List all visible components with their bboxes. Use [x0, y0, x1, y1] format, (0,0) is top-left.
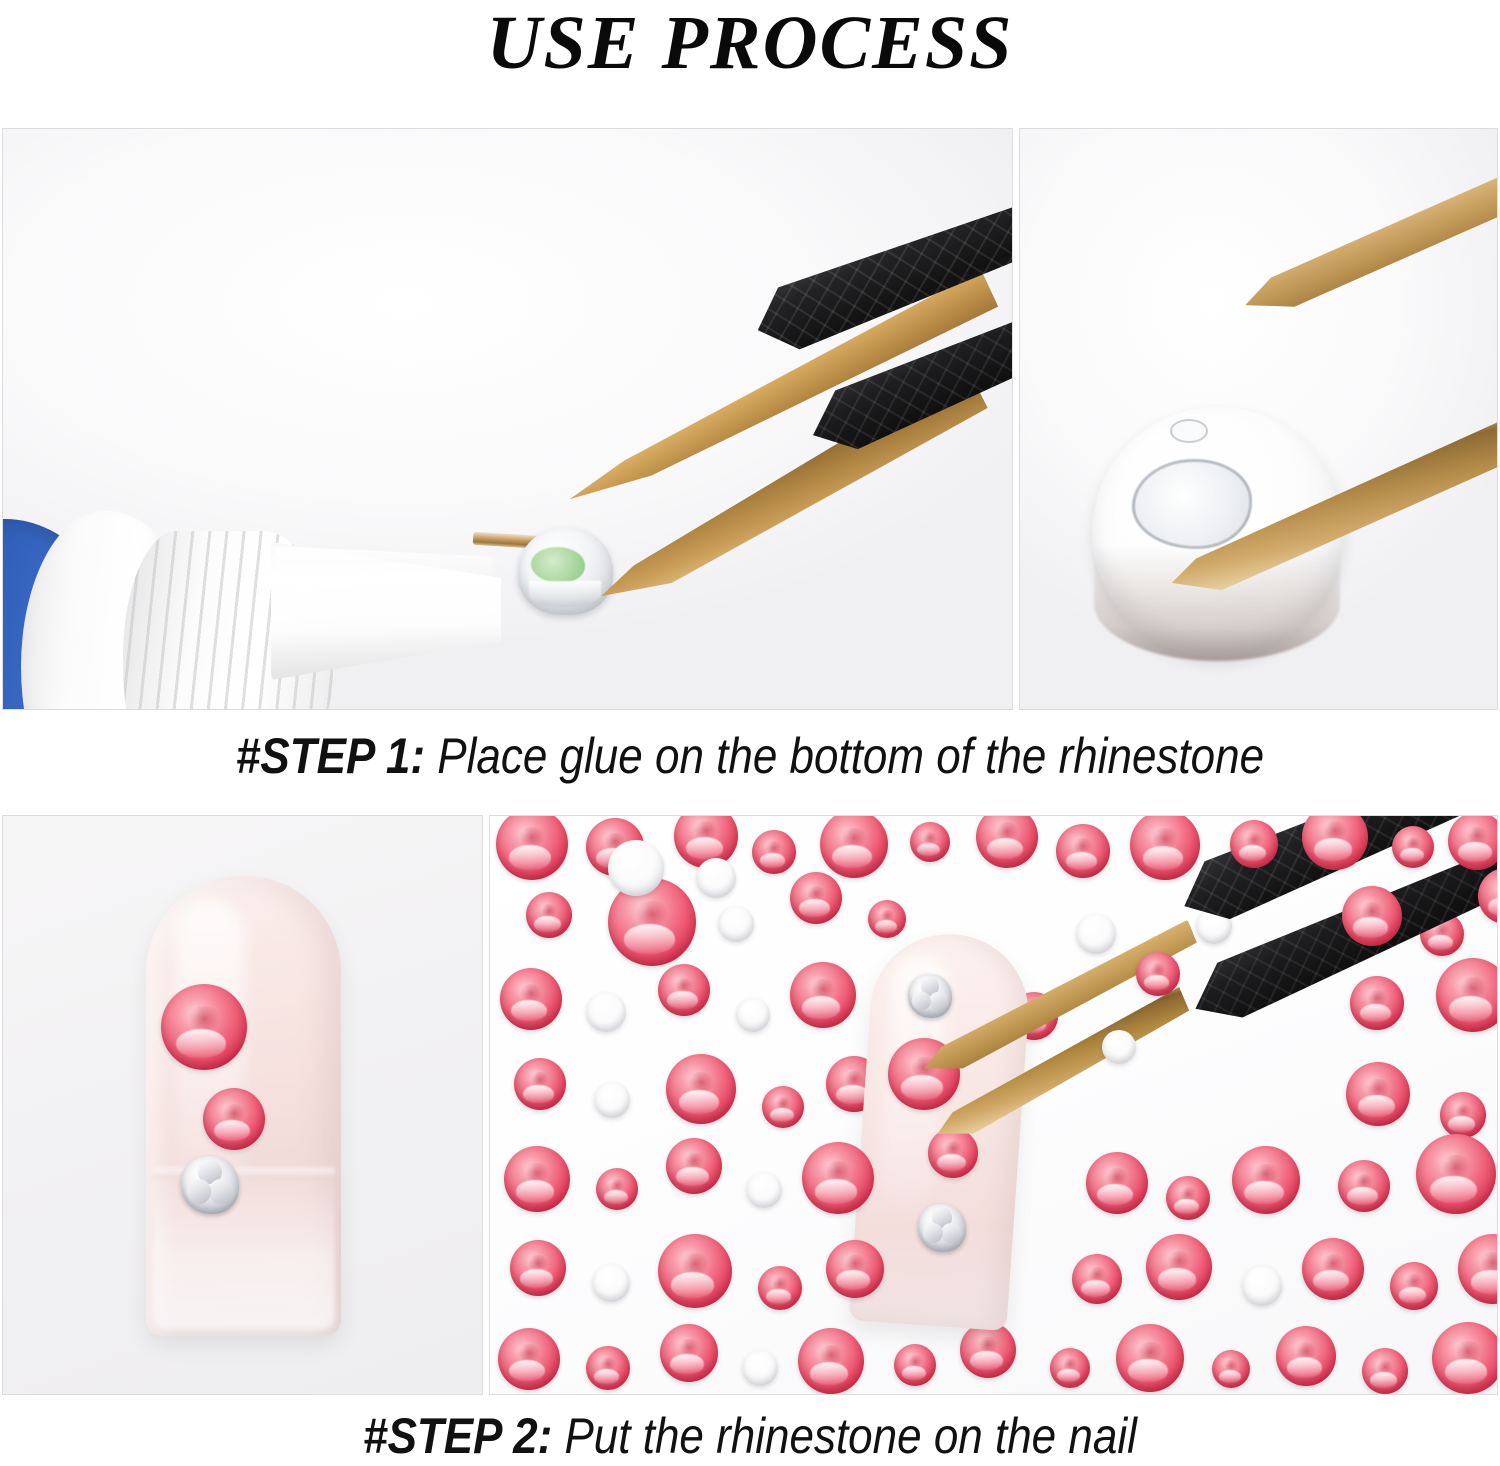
- pink-rhinestone-icon: [1276, 1326, 1336, 1386]
- step-1-label: #STEP 1:: [236, 728, 425, 784]
- pink-rhinestone-icon: [1230, 820, 1278, 868]
- rhinestone-silver-back-icon: [592, 1264, 630, 1302]
- pink-rhinestone-icon: [1166, 1176, 1210, 1220]
- rhinestone-silver-back-icon: [742, 1350, 778, 1386]
- step-1-text: Place glue on the bottom of the rhinesto…: [425, 728, 1264, 784]
- pink-rhinestone-icon: [666, 1054, 736, 1124]
- pink-rhinestone-icon: [510, 1240, 566, 1296]
- pink-rhinestone-icon: [1440, 1092, 1486, 1138]
- rhinestone-silver-back-icon: [608, 840, 664, 896]
- pink-rhinestone-icon: [1116, 1324, 1184, 1392]
- pink-rhinestone-icon: [498, 1328, 560, 1390]
- pink-rhinestone-icon: [1416, 1134, 1496, 1214]
- pink-rhinestone-icon: [752, 830, 796, 874]
- pink-rhinestone-icon: [1362, 1348, 1408, 1394]
- photo-rhinestone-scatter: [489, 815, 1498, 1395]
- rhinestone-silver-back-icon: [1102, 1030, 1136, 1064]
- rhinestone-silver-back-icon: [1076, 914, 1116, 954]
- pink-rhinestone-icon: [758, 1266, 802, 1310]
- crystal-lobe-icon: [912, 992, 930, 1010]
- small-pink-rhinestone: [203, 1088, 265, 1150]
- rhinestone-silver-back-icon: [594, 1082, 630, 1118]
- crystal-lobe-icon: [941, 1223, 961, 1243]
- rhinestone-silver-back-icon: [736, 998, 770, 1032]
- pink-rhinestone-icon: [504, 1146, 570, 1212]
- pink-rhinestone-icon: [1392, 826, 1434, 868]
- photo-glue-bottle-and-tweezers: [2, 128, 1013, 710]
- rhinestone-silver-back-icon: [1242, 1266, 1282, 1306]
- pink-rhinestone-icon: [1338, 1160, 1390, 1212]
- step-2-text: Put the rhinestone on the nail: [552, 1408, 1137, 1464]
- step-2-caption: #STEP 2: Put the rhinestone on the nail: [90, 1407, 1410, 1465]
- pink-rhinestone-icon: [586, 1346, 630, 1390]
- pink-rhinestone-icon: [1146, 1234, 1212, 1300]
- pink-rhinestone-icon: [658, 1234, 732, 1308]
- pink-rhinestone-icon: [826, 1240, 884, 1298]
- pink-rhinestone-icon: [500, 968, 562, 1030]
- pink-rhinestone-icon: [798, 1328, 864, 1394]
- pink-rhinestone-icon: [1050, 1348, 1090, 1388]
- pink-rhinestone-icon: [1136, 952, 1180, 996]
- pink-rhinestone-icon: [1072, 1254, 1122, 1304]
- pink-rhinestone-icon: [526, 892, 572, 938]
- pink-rhinestone-icon: [514, 1058, 566, 1110]
- rhinestone-silver-back-icon: [718, 906, 754, 942]
- rhinestone-silver-back-icon: [586, 992, 626, 1032]
- crystal-lobe-icon: [209, 1179, 233, 1203]
- pink-rhinestone-icon: [1232, 1146, 1300, 1214]
- photo-rhinestone-back-closeup: [1019, 128, 1498, 710]
- pink-rhinestone-icon: [1056, 824, 1110, 878]
- clear-crystal-cluster-icon: [918, 1204, 966, 1252]
- clear-crystal-cluster-icon: [908, 974, 952, 1018]
- pink-rhinestone-icon: [894, 1344, 936, 1386]
- pink-rhinestone-icon: [790, 962, 856, 1028]
- pink-rhinestone-icon: [666, 1138, 722, 1194]
- pink-rhinestone-icon: [1212, 1350, 1250, 1388]
- pink-rhinestone-icon: [1342, 886, 1402, 946]
- rhinestone-facet-icon: [529, 581, 601, 607]
- glue-bubble-icon: [1170, 419, 1208, 443]
- step-1-caption: #STEP 1: Place glue on the bottom of the…: [90, 727, 1410, 785]
- clear-crystal-cluster: [181, 1156, 239, 1214]
- crystal-lobe-icon: [187, 1179, 211, 1203]
- pink-rhinestone-icon: [960, 1322, 1016, 1378]
- rhinestone-silver-back-icon: [746, 1172, 782, 1208]
- pink-rhinestone-icon: [802, 1142, 874, 1214]
- photo-decorated-nail: [2, 815, 483, 1395]
- rhinestone-silver-back-icon: [696, 858, 736, 898]
- step-2-label: #STEP 2:: [363, 1408, 552, 1464]
- pink-rhinestone-icon: [790, 872, 842, 924]
- page-title: USE PROCESS: [0, 2, 1500, 84]
- small-pink-rhinestone-icon: [928, 1128, 978, 1178]
- pink-rhinestone-icon: [868, 900, 906, 938]
- nail-smile-line-icon: [153, 1168, 335, 1178]
- crystal-lobe-icon: [929, 992, 947, 1010]
- pink-rhinestone-icon: [658, 964, 710, 1016]
- large-pink-rhinestone: [161, 984, 247, 1070]
- pink-rhinestone-icon: [1086, 1152, 1148, 1214]
- use-process-page: USE PROCESS #STEP 1: Place glue on the b…: [0, 0, 1500, 1466]
- pink-rhinestone-icon: [1346, 1062, 1410, 1126]
- green-glue-drop-icon: [531, 547, 585, 583]
- glue-blob-icon: [1132, 459, 1252, 549]
- pink-rhinestone-icon: [1432, 1322, 1498, 1394]
- pink-rhinestone-icon: [1350, 976, 1404, 1030]
- pink-rhinestone-icon: [596, 1168, 638, 1210]
- pink-rhinestone-icon: [1390, 1262, 1438, 1310]
- pink-rhinestone-icon: [660, 1324, 718, 1382]
- pink-rhinestone-icon: [910, 822, 950, 862]
- pink-rhinestone-icon: [1302, 1238, 1364, 1300]
- crystal-lobe-icon: [923, 1223, 943, 1243]
- pink-rhinestone-icon: [762, 1086, 804, 1128]
